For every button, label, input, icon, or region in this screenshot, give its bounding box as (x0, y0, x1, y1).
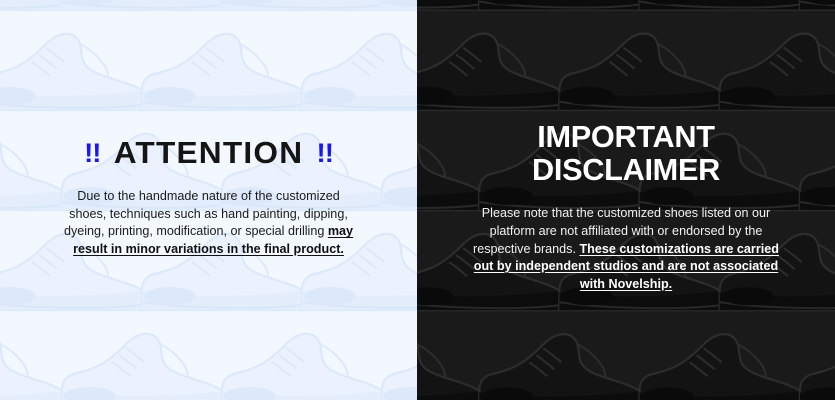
customization-notice-banner: !!ATTENTION!! Due to the handmade nature… (0, 0, 835, 400)
attention-heading: !!ATTENTION!! (22, 137, 394, 168)
disclaimer-panel: IMPORTANT DISCLAIMER Please note that th… (417, 0, 835, 400)
attention-bang-right: !! (317, 140, 333, 167)
attention-body-text: Due to the handmade nature of the custom… (64, 189, 348, 238)
disclaimer-heading: IMPORTANT DISCLAIMER (443, 120, 809, 186)
attention-content: !!ATTENTION!! Due to the handmade nature… (0, 0, 417, 258)
disclaimer-heading-line-1: IMPORTANT (445, 120, 807, 153)
attention-bang-left: !! (84, 140, 100, 167)
disclaimer-body: Please note that the customized shoes li… (469, 205, 783, 293)
attention-heading-word: ATTENTION (114, 137, 304, 168)
disclaimer-heading-line-2: DISCLAIMER (445, 153, 807, 186)
attention-body: Due to the handmade nature of the custom… (59, 188, 359, 258)
attention-panel: !!ATTENTION!! Due to the handmade nature… (0, 0, 417, 400)
disclaimer-content: IMPORTANT DISCLAIMER Please note that th… (417, 0, 835, 293)
